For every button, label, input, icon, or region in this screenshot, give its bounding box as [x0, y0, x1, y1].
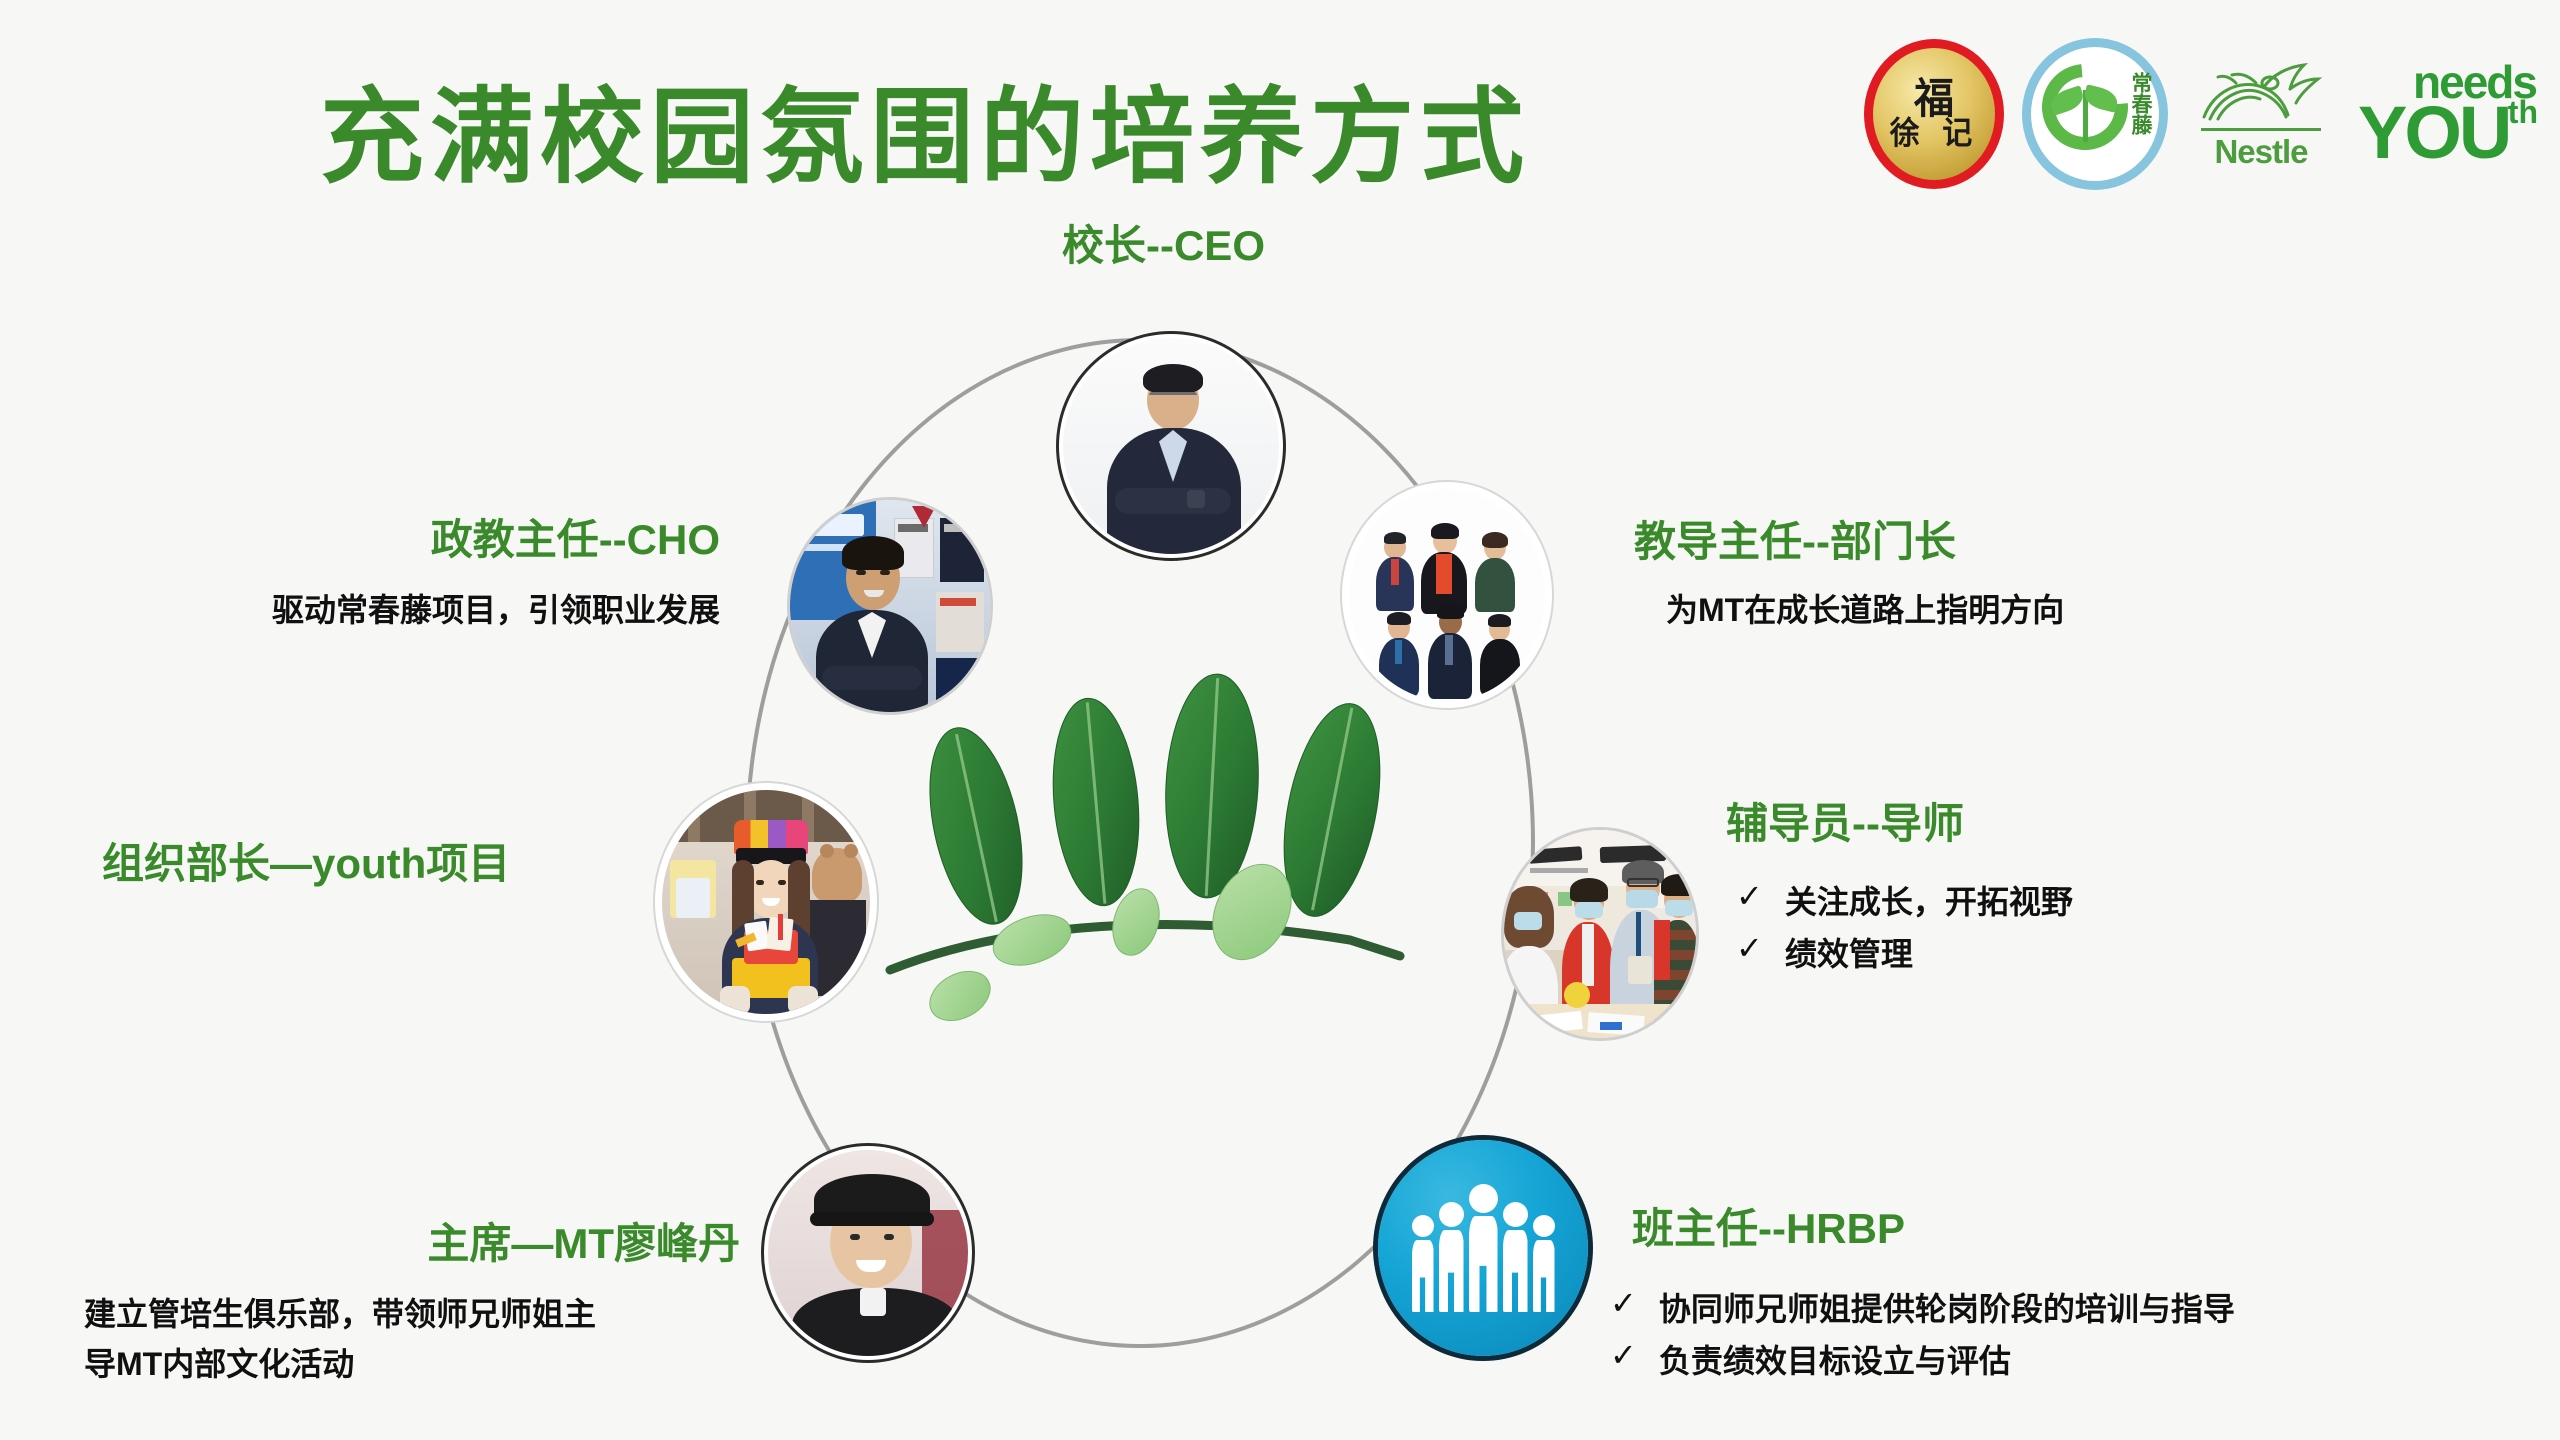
nestle-birds-nest-icon — [2196, 53, 2326, 135]
hrbp-role-title: 班主任--HRBP — [1632, 1195, 2532, 1256]
label-department-head: 教导主任--部门长 为MT在成长道路上指明方向 — [1634, 508, 2374, 631]
cho-subtitle: 驱动常春藤项目，引领职业发展 — [60, 585, 720, 631]
label-cho: 政教主任--CHO 驱动常春藤项目，引领职业发展 — [60, 506, 720, 631]
mentor-role-title: 辅导员--导师 — [1726, 790, 2560, 851]
chairman-role-title: 主席—MT廖峰丹 — [60, 1210, 740, 1271]
ivy-logo-text: 常春藤 — [2129, 72, 2151, 135]
ceo-role-title: 校长--CEO — [1062, 212, 1482, 273]
check-icon: ✓ — [1736, 929, 1763, 975]
needs-youth-main-text: YOU — [2358, 100, 2509, 167]
nestle-wordmark: Nestle — [2186, 128, 2336, 171]
check-icon: ✓ — [1610, 1336, 1637, 1382]
node-ceo[interactable] — [1063, 338, 1279, 554]
cho-photo — [790, 500, 990, 712]
nestle-underline — [2201, 128, 2321, 131]
ivy-program-logo: 常春藤 — [2022, 38, 2168, 190]
organization-head-photo — [662, 790, 870, 1014]
needs-youth-sup-text: th — [2508, 94, 2538, 131]
node-chairman[interactable] — [768, 1150, 968, 1356]
mentor-bullet-text: 绩效管理 — [1785, 929, 1913, 975]
people-group-icon — [1412, 1184, 1555, 1312]
department-head-role-title: 教导主任--部门长 — [1634, 508, 2374, 569]
department-head-subtitle: 为MT在成长道路上指明方向 — [1666, 585, 2374, 631]
label-mentor: 辅导员--导师 ✓ 关注成长，开拓视野 ✓ 绩效管理 — [1726, 790, 2560, 975]
nestle-wordmark-text: Nestle — [2214, 133, 2307, 170]
cho-role-title: 政教主任--CHO — [60, 506, 720, 567]
slide-header: 充满校园氛围的培养方式 福 徐 记 常春藤 — [0, 0, 2560, 210]
label-hrbp: 班主任--HRBP ✓ 协同师兄师姐提供轮岗阶段的培训与指导 ✓ 负责绩效目标设… — [1632, 1195, 2532, 1382]
ceo-photo — [1063, 338, 1279, 554]
check-icon: ✓ — [1610, 1284, 1637, 1330]
label-ceo: 校长--CEO — [1062, 212, 1482, 273]
mentor-bullet-item: ✓ 绩效管理 — [1736, 929, 2560, 975]
hrbp-bullet-text: 负责绩效目标设立与评估 — [1659, 1336, 2011, 1382]
chairman-photo — [768, 1150, 968, 1356]
xufuji-glyph-group: 福 徐 记 — [1890, 79, 1978, 149]
nestle-logo: Nestle — [2186, 39, 2336, 189]
department-head-photo — [1349, 489, 1545, 701]
mentor-bullet-text: 关注成长，开拓视野 — [1785, 877, 2073, 923]
page-title: 充满校园氛围的培养方式 — [320, 52, 1530, 203]
org-circle-diagram: 校长--CEO — [0, 210, 2560, 1440]
node-mentor[interactable] — [1504, 830, 1696, 1038]
chairman-subtitle-line1: 建立管培生俱乐部，带领师兄师姐主 — [84, 1289, 740, 1335]
hrbp-bullet-item: ✓ 负责绩效目标设立与评估 — [1610, 1336, 2532, 1382]
mentor-bullet-list: ✓ 关注成长，开拓视野 ✓ 绩效管理 — [1736, 877, 2560, 975]
check-icon: ✓ — [1736, 877, 1763, 923]
node-department-head[interactable] — [1349, 489, 1545, 701]
node-organization-head[interactable] — [662, 790, 870, 1014]
hrbp-bullet-list: ✓ 协同师兄师姐提供轮岗阶段的培训与指导 ✓ 负责绩效目标设立与评估 — [1610, 1284, 2532, 1382]
chairman-subtitle-line2: 导MT内部文化活动 — [84, 1339, 740, 1385]
xufuji-gold-seal: 福 徐 记 — [1873, 48, 1995, 180]
label-organization-head: 组织部长—youth项目 — [60, 830, 640, 891]
hrbp-bullet-item: ✓ 协同师兄师姐提供轮岗阶段的培训与指导 — [1610, 1284, 2532, 1330]
hrbp-bullet-text: 协同师兄师姐提供轮岗阶段的培训与指导 — [1659, 1284, 2235, 1330]
mentor-photo — [1504, 830, 1696, 1038]
logo-strip: 福 徐 记 常春藤 — [1864, 38, 2544, 190]
node-hrbp[interactable] — [1378, 1140, 1588, 1356]
xufuji-logo: 福 徐 记 — [1864, 39, 2004, 189]
node-cho[interactable] — [790, 500, 990, 712]
needs-youth-logo: needs YOU th — [2354, 39, 2544, 189]
label-chairman: 主席—MT廖峰丹 建立管培生俱乐部，带领师兄师姐主 导MT内部文化活动 — [60, 1210, 740, 1385]
mentor-bullet-item: ✓ 关注成长，开拓视野 — [1736, 877, 2560, 923]
xufuji-glyph-bottom: 徐 记 — [1890, 119, 1978, 149]
organization-head-role-title: 组织部长—youth项目 — [102, 830, 640, 891]
